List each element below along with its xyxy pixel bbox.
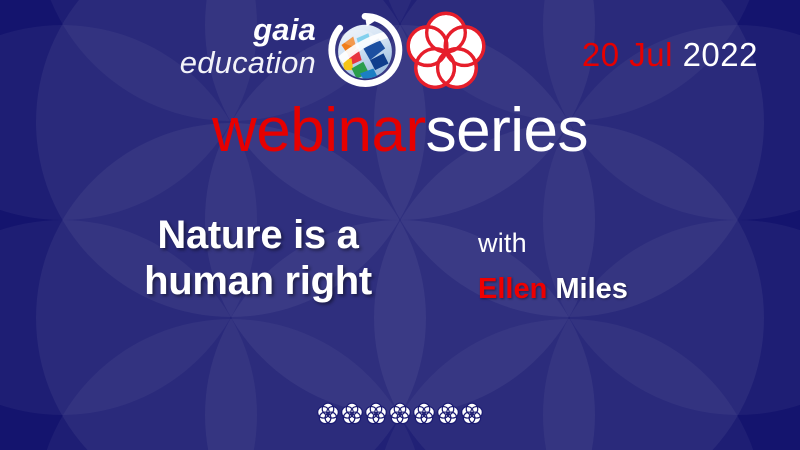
flower-of-life-icon (436, 402, 460, 426)
event-date-year: 2022 (683, 36, 758, 73)
speaker-last-name: Miles (555, 273, 628, 305)
event-date: 20 Jul 2022 (582, 36, 758, 74)
webinar-promo-slide: gaia education (0, 0, 800, 450)
event-date-day: 20 Jul (582, 36, 673, 73)
speaker-with-label: with (478, 228, 758, 259)
flower-of-life-icon (388, 402, 412, 426)
flower-of-life-icon (412, 402, 436, 426)
brand-wordmark: gaia education (150, 14, 316, 78)
webinar-title: Nature is a human right (58, 212, 458, 305)
gaia-education-globe-logo (323, 8, 407, 92)
footer-icon-strip (0, 402, 800, 426)
series-heading-webinar: webinar (212, 96, 426, 165)
webinar-title-line-1: Nature is a (58, 212, 458, 258)
flower-of-life-icon (364, 402, 388, 426)
brand-gaia-text: gaia (150, 14, 316, 45)
flower-of-life-icon (316, 402, 340, 426)
flower-of-life-icon (460, 402, 484, 426)
speaker-first-name: Ellen (478, 273, 547, 305)
flower-of-life-icon (340, 402, 364, 426)
speaker-block: with Ellen Miles (478, 228, 758, 306)
brand-education-text: education (150, 47, 316, 78)
speaker-name: Ellen Miles (478, 273, 758, 306)
series-heading-series: series (426, 96, 588, 165)
series-heading: webinarseries (0, 95, 800, 166)
webinar-title-line-2: human right (58, 258, 458, 304)
flower-of-life-logo (404, 10, 488, 94)
